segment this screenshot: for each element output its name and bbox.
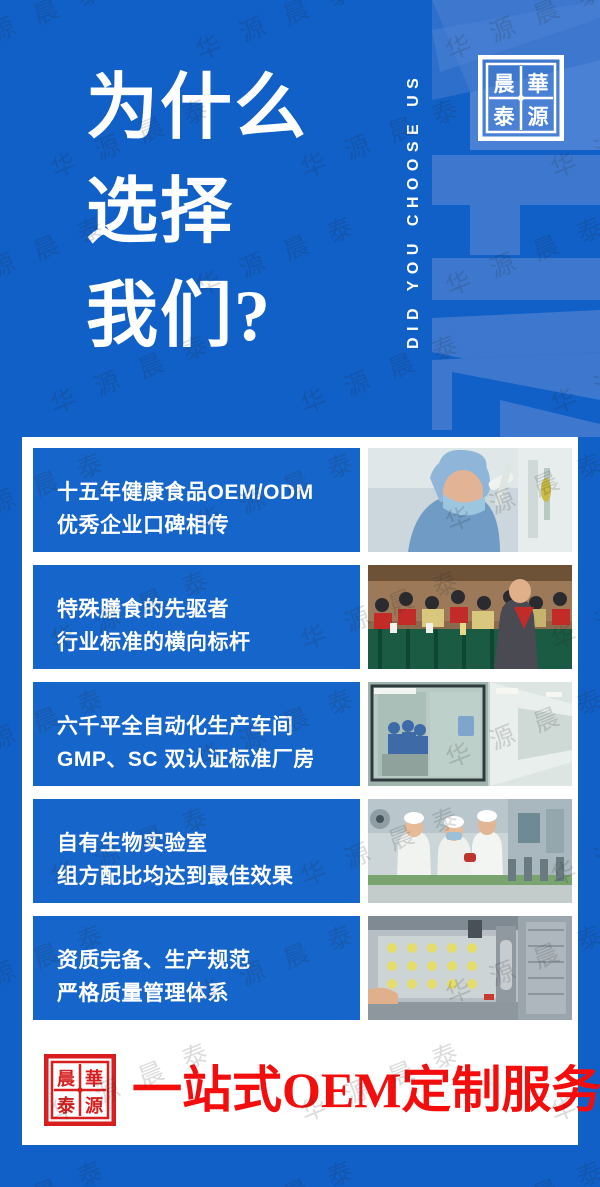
feature-card-line: 行业标准的横向标杆	[57, 626, 360, 659]
feature-card[interactable]: 十五年健康食品OEM/ODM 优秀企业口碑相传	[33, 448, 572, 552]
svg-text:泰: 泰	[56, 1095, 76, 1116]
feature-card[interactable]: 特殊膳食的先驱者 行业标准的横向标杆	[33, 565, 572, 669]
feature-card-text: 自有生物实验室 组方配比均达到最佳效果	[33, 799, 360, 903]
feature-card-line: 资质完备、生产规范	[57, 944, 360, 977]
watermark-text: 华 源 晨 泰	[189, 1149, 365, 1187]
svg-text:華: 華	[85, 1068, 103, 1089]
svg-text:晨: 晨	[494, 72, 516, 96]
company-seal-red-icon: 晨 華 泰 源	[44, 1054, 116, 1126]
photo-lab-technician-pipette	[368, 448, 572, 552]
feature-card-line: 十五年健康食品OEM/ODM	[57, 476, 360, 509]
company-seal-white-icon: 晨 華 泰 源	[478, 55, 564, 141]
feature-card[interactable]: 资质完备、生产规范 严格质量管理体系	[33, 916, 572, 1020]
footer-slogan: 一站式OEM定制服务	[132, 1063, 600, 1117]
svg-text:華: 華	[528, 72, 549, 96]
title-line-2: 选择	[86, 160, 386, 264]
poster-header: 为什么 选择 我们? DID YOU CHOOSE US 晨 華 泰 源	[0, 0, 600, 437]
photo-tablet-packaging-machine	[368, 916, 572, 1020]
photo-cleanroom-corridor	[368, 682, 572, 786]
feature-card[interactable]: 六千平全自动化生产车间 GMP、SC 双认证标准厂房	[33, 682, 572, 786]
feature-card-line: 自有生物实验室	[57, 827, 360, 860]
watermark-text: 华 源 晨 泰	[0, 1149, 115, 1187]
photo-conference-audience	[368, 565, 572, 669]
feature-card-line: GMP、SC 双认证标准厂房	[57, 743, 360, 776]
svg-text:源: 源	[528, 105, 549, 129]
watermark-row: 华 源 晨 泰华 源 晨 泰华 源 晨 泰华 源 晨 泰华 源 晨 泰	[0, 1180, 600, 1187]
feature-card-text: 资质完备、生产规范 严格质量管理体系	[33, 916, 360, 1020]
feature-card-text: 十五年健康食品OEM/ODM 优秀企业口碑相传	[33, 448, 360, 552]
photo-production-line-staff	[368, 799, 572, 903]
page-title: 为什么 选择 我们?	[86, 56, 386, 368]
svg-text:晨: 晨	[57, 1069, 76, 1089]
feature-card-line: 六千平全自动化生产车间	[57, 710, 360, 743]
feature-card[interactable]: 自有生物实验室 组方配比均达到最佳效果	[33, 799, 572, 903]
svg-text:源: 源	[85, 1095, 103, 1116]
poster-root: 为什么 选择 我们? DID YOU CHOOSE US 晨 華 泰 源 十五年…	[0, 0, 600, 1187]
feature-card-line: 特殊膳食的先驱者	[57, 593, 360, 626]
feature-card-list: 十五年健康食品OEM/ODM 优秀企业口碑相传	[33, 448, 572, 1033]
title-line-3: 我们?	[86, 264, 386, 368]
title-line-1: 为什么	[86, 56, 386, 160]
vertical-tagline: DID YOU CHOOSE US	[396, 14, 432, 406]
feature-card-line: 严格质量管理体系	[57, 977, 360, 1010]
feature-card-text: 六千平全自动化生产车间 GMP、SC 双认证标准厂房	[33, 682, 360, 786]
content-frame: 十五年健康食品OEM/ODM 优秀企业口碑相传	[22, 437, 578, 1145]
feature-card-text: 特殊膳食的先驱者 行业标准的横向标杆	[33, 565, 360, 669]
footer-bar: 晨 華 泰 源 一站式OEM定制服务	[22, 1035, 578, 1145]
feature-card-line: 组方配比均达到最佳效果	[57, 860, 360, 893]
watermark-text: 华 源 晨 泰	[439, 1149, 600, 1187]
svg-text:泰: 泰	[493, 105, 516, 129]
feature-card-line: 优秀企业口碑相传	[57, 509, 360, 542]
